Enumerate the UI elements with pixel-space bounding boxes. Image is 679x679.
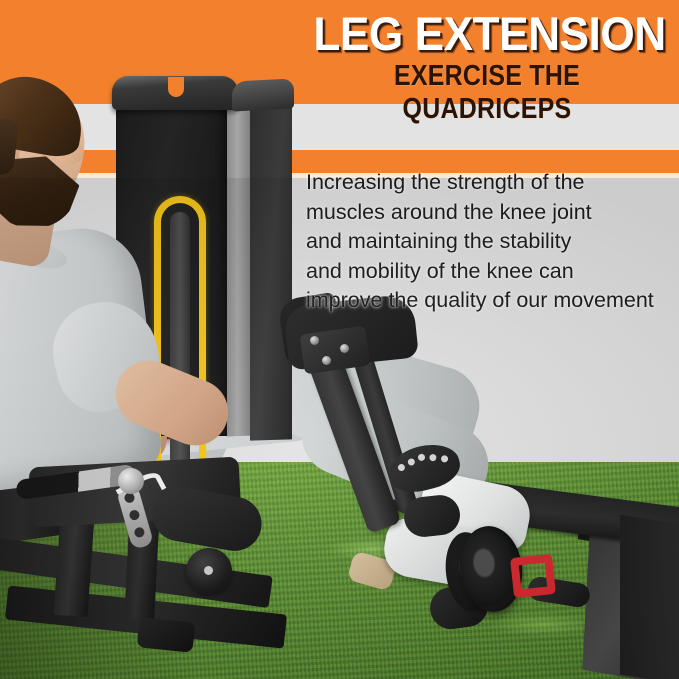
lever-bolt bbox=[322, 356, 331, 365]
page-subtitle: EXERCISE THE QUADRICEPS bbox=[322, 60, 652, 126]
infographic-canvas: LEG EXTENSION EXERCISE THE QUADRICEPS In… bbox=[0, 0, 679, 679]
description-line-2: muscles around the knee joint bbox=[306, 198, 678, 228]
lever-bolt bbox=[340, 344, 349, 353]
description-line-3: and maintaining the stability bbox=[306, 227, 678, 257]
description-line-1: Increasing the strength of the bbox=[306, 168, 678, 198]
description-text: Increasing the strength of the muscles a… bbox=[306, 168, 678, 316]
athlete-head bbox=[0, 79, 90, 217]
page-title: LEG EXTENSION bbox=[311, 8, 667, 60]
description-line-4: and mobility of the knee can bbox=[306, 257, 678, 287]
assist-handle-knob bbox=[118, 468, 144, 494]
turf-side-trim bbox=[620, 514, 679, 679]
weight-plate-red-clip bbox=[510, 554, 556, 598]
lever-bolt bbox=[310, 336, 319, 345]
frame-foot-pad bbox=[137, 617, 196, 653]
description-line-5: improve the quality of our movement bbox=[306, 286, 678, 316]
pivot-wheel-hub bbox=[204, 566, 213, 575]
